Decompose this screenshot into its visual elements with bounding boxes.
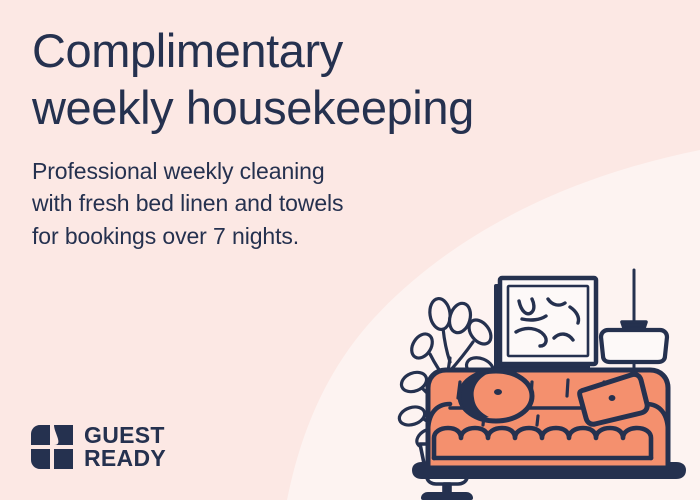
promo-banner: Complimentary weekly housekeeping Profes…	[0, 0, 700, 500]
copy-block: Complimentary weekly housekeeping Profes…	[32, 22, 592, 253]
living-room-illustration	[388, 262, 700, 500]
logo-line-1: GUEST	[84, 424, 166, 447]
sofa	[412, 370, 686, 479]
logo-line-2: READY	[84, 447, 166, 470]
round-cushion	[460, 371, 532, 421]
guestready-quadrant-mark	[31, 425, 73, 469]
logo-wordmark: GUEST READY	[84, 424, 166, 470]
page-title: Complimentary weekly housekeeping	[32, 22, 592, 137]
guestready-logo[interactable]: GUEST READY	[31, 424, 166, 470]
pendant-lamp	[601, 270, 667, 383]
description-text: Professional weekly cleaning with fresh …	[32, 155, 592, 253]
framed-artwork	[494, 278, 596, 370]
